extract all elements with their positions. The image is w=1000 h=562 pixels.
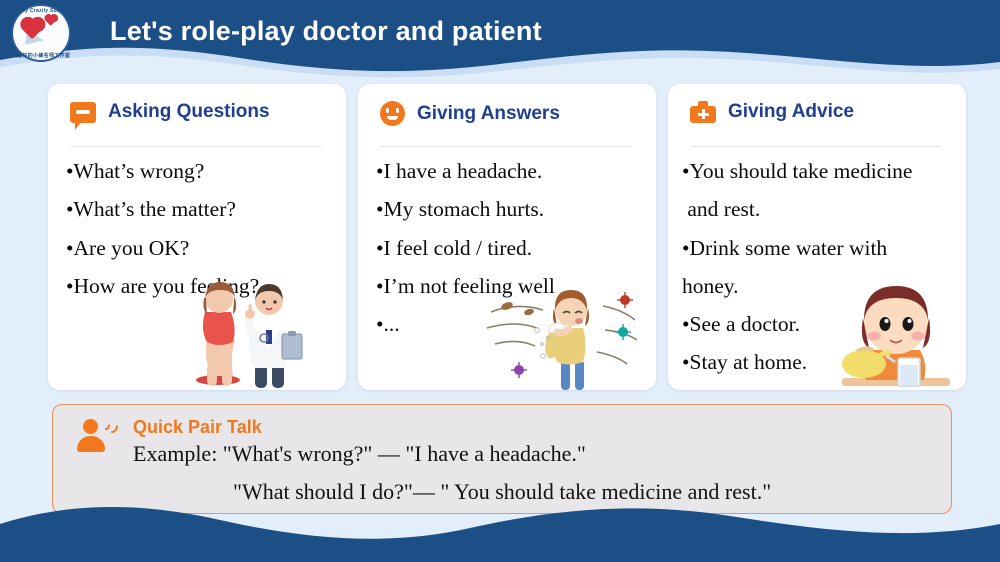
quick-pair-talk-example-1: Example: "What's wrong?" — "I have a hea… (133, 441, 586, 467)
first-aid-kit-icon (690, 101, 716, 123)
logo-ring-text-top: Happily Crazily Successfully (8, 8, 74, 14)
card-header: Giving Answers (380, 101, 560, 126)
quick-pair-talk-title: Quick Pair Talk (133, 417, 262, 438)
card-divider (690, 146, 942, 147)
list-item: •Are you OK? (66, 229, 338, 267)
speaking-person-icon (75, 417, 117, 455)
list-item: •I have a headache. (376, 152, 648, 190)
list-item: •I’m not feeling well (376, 267, 648, 305)
header-band: Happily Crazily Successfully 做最好的小蜂名师工作室… (0, 0, 1000, 78)
card-header: Giving Advice (690, 101, 854, 123)
list-item: •Stay at home. (682, 343, 960, 381)
list-item: and rest. (682, 190, 960, 228)
card-header: Asking Questions (70, 101, 270, 123)
list-item: •You should take medicine (682, 152, 960, 190)
card-divider (380, 146, 632, 147)
speech-bubble-icon (70, 102, 96, 123)
list-item: •... (376, 305, 648, 343)
card-giving-answers: Giving Answers •I have a headache. •My s… (358, 84, 656, 390)
card-row: Asking Questions •What’s wrong? •What’s … (0, 84, 1000, 394)
list-item: honey. (682, 267, 960, 305)
card-divider (70, 146, 322, 147)
card-title: Giving Advice (728, 101, 854, 123)
sick-face-icon (380, 101, 405, 126)
list-item: •My stomach hurts. (376, 190, 648, 228)
list-item: •How are you feeling? (66, 267, 338, 305)
logo-ring-text-bottom: 做最好的小蜂名师工作室 (8, 52, 74, 59)
card-body: •What’s wrong? •What’s the matter? •Are … (66, 152, 338, 305)
card-title: Asking Questions (108, 101, 270, 123)
header-wave-decoration (0, 42, 1000, 78)
card-body: •You should take medicine and rest. •Dri… (682, 152, 960, 382)
list-item: •What’s wrong? (66, 152, 338, 190)
card-body: •I have a headache. •My stomach hurts. •… (376, 152, 648, 343)
list-item: •What’s the matter? (66, 190, 338, 228)
list-item: •I feel cold / tired. (376, 229, 648, 267)
footer-wave-decoration (0, 494, 1000, 562)
list-item: •See a doctor. (682, 305, 960, 343)
card-giving-advice: Giving Advice •You should take medicine … (668, 84, 966, 390)
list-item: •Drink some water with (682, 229, 960, 267)
brand-logo: Happily Crazily Successfully 做最好的小蜂名师工作室 (8, 2, 74, 64)
card-asking-questions: Asking Questions •What’s wrong? •What’s … (48, 84, 346, 390)
page-title: Let's role-play doctor and patient (110, 16, 542, 47)
card-title: Giving Answers (417, 103, 560, 125)
